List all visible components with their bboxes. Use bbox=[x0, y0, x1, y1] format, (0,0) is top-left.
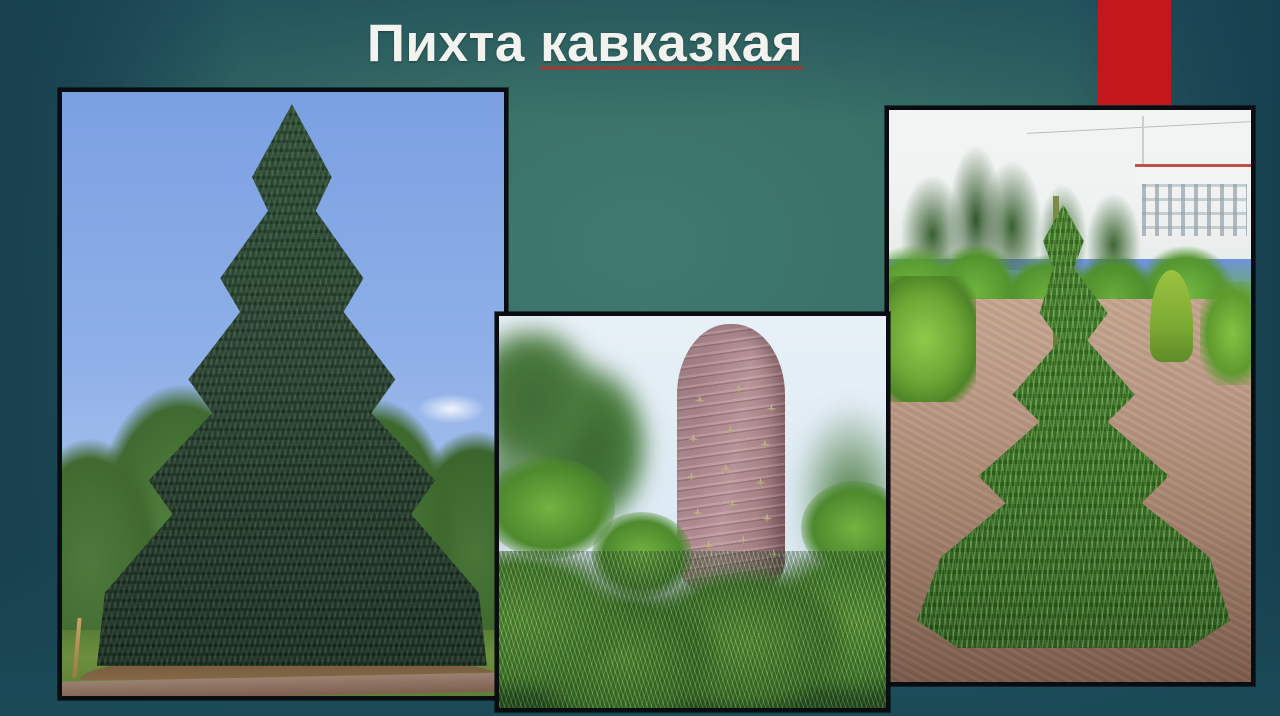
photo-fir-cone[interactable] bbox=[495, 312, 890, 712]
title-word-second: кавказкая bbox=[540, 14, 803, 73]
photo-young-sapling[interactable] bbox=[885, 106, 1255, 686]
presentation-slide: Пихта кавказкая bbox=[0, 0, 1280, 716]
needle-texture bbox=[499, 551, 886, 708]
young-fir-sapling bbox=[903, 196, 1243, 648]
spellcheck-squiggle-underline bbox=[540, 66, 803, 70]
fir-branch-with-needles bbox=[499, 551, 886, 708]
photo-mature-fir[interactable] bbox=[58, 88, 508, 700]
title-word-first: Пихта bbox=[367, 14, 540, 73]
title-word-misspelled: кавказкая bbox=[540, 16, 803, 72]
sapling-needle-texture bbox=[903, 196, 1243, 648]
slide-title-text: Пихта кавказкая bbox=[367, 16, 803, 72]
slide-title[interactable]: Пихта кавказкая bbox=[0, 16, 1280, 72]
mature-fir-tree bbox=[93, 104, 491, 666]
photo-fir-cone-content bbox=[499, 316, 886, 708]
fir-foliage-texture bbox=[93, 104, 491, 666]
photo-young-sapling-content bbox=[889, 110, 1251, 682]
photo-mature-fir-content bbox=[62, 92, 504, 696]
